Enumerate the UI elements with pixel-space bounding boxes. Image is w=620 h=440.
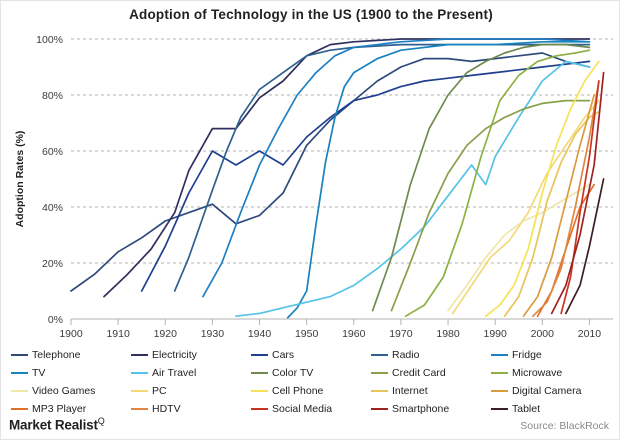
brand-mark-icon: Q — [98, 416, 105, 426]
legend-label: Smartphone — [392, 403, 449, 415]
chart-figure: Adoption of Technology in the US (1900 t… — [0, 0, 620, 440]
x-axis-tick-label: 2010 — [578, 328, 602, 340]
legend-item-microwave[interactable]: Microwave — [491, 367, 611, 379]
series-line-digital-camera — [523, 95, 594, 316]
legend-label: Digital Camera — [512, 385, 581, 397]
legend-swatch-icon — [11, 390, 28, 393]
legend-swatch-icon — [251, 372, 268, 375]
x-axis-tick-label: 1990 — [483, 328, 507, 340]
legend-label: Color TV — [272, 367, 313, 379]
legend-item-fridge[interactable]: Fridge — [491, 349, 611, 361]
line-chart-plot: 0%20%40%60%80%100%1900191019201930194019… — [1, 1, 620, 346]
legend-swatch-icon — [491, 390, 508, 393]
legend-item-tv[interactable]: TV — [11, 367, 131, 379]
y-axis-tick-label: 80% — [42, 90, 63, 102]
legend-item-pc[interactable]: PC — [131, 385, 251, 397]
legend-swatch-icon — [371, 354, 388, 357]
legend-label: Fridge — [512, 349, 542, 361]
legend-swatch-icon — [11, 354, 28, 357]
y-axis-tick-label: 60% — [42, 146, 63, 158]
x-axis-tick-label: 1900 — [59, 328, 83, 340]
series-line-video-games — [448, 185, 589, 311]
legend-swatch-icon — [491, 372, 508, 375]
y-axis-tick-label: 20% — [42, 258, 63, 270]
legend-item-video-games[interactable]: Video Games — [11, 385, 131, 397]
legend-label: MP3 Player — [32, 403, 86, 415]
legend-label: Microwave — [512, 367, 562, 379]
x-axis-tick-label: 2000 — [531, 328, 555, 340]
legend-label: Air Travel — [152, 367, 196, 379]
legend-item-social-media[interactable]: Social Media — [251, 403, 371, 415]
y-axis-tick-label: 40% — [42, 202, 63, 214]
legend-item-digital-camera[interactable]: Digital Camera — [491, 385, 611, 397]
legend-swatch-icon — [131, 354, 148, 357]
legend-label: Credit Card — [392, 367, 446, 379]
x-axis-tick-label: 1940 — [248, 328, 272, 340]
legend-label: Internet — [392, 385, 428, 397]
legend-label: HDTV — [152, 403, 181, 415]
series-line-cars — [142, 61, 590, 291]
legend-swatch-icon — [251, 390, 268, 393]
legend-swatch-icon — [251, 354, 268, 357]
legend-swatch-icon — [371, 408, 388, 411]
legend-label: Cars — [272, 349, 294, 361]
legend-item-smartphone[interactable]: Smartphone — [371, 403, 491, 415]
legend-swatch-icon — [11, 372, 28, 375]
x-axis-tick-label: 1910 — [106, 328, 130, 340]
legend-item-telephone[interactable]: Telephone — [11, 349, 131, 361]
y-axis-tick-label: 0% — [48, 314, 63, 326]
legend-label: Tablet — [512, 403, 540, 415]
legend-swatch-icon — [371, 390, 388, 393]
x-axis-tick-label: 1970 — [389, 328, 413, 340]
series-line-fridge — [203, 39, 589, 297]
x-axis-tick-label: 1920 — [154, 328, 178, 340]
legend-label: Social Media — [272, 403, 332, 415]
y-axis-tick-label: 100% — [36, 34, 63, 46]
legend-item-cars[interactable]: Cars — [251, 349, 371, 361]
source-attribution: Source: BlackRock — [520, 420, 609, 432]
legend-item-color-tv[interactable]: Color TV — [251, 367, 371, 379]
legend-swatch-icon — [491, 354, 508, 357]
legend-item-credit-card[interactable]: Credit Card — [371, 367, 491, 379]
legend-label: Electricity — [152, 349, 197, 361]
legend-item-radio[interactable]: Radio — [371, 349, 491, 361]
legend-item-air-travel[interactable]: Air Travel — [131, 367, 251, 379]
legend-label: PC — [152, 385, 167, 397]
legend-label: Radio — [392, 349, 419, 361]
chart-legend: TelephoneElectricityCarsRadioFridgeTVAir… — [11, 346, 611, 418]
legend-swatch-icon — [11, 408, 28, 411]
legend-label: Video Games — [32, 385, 95, 397]
series-line-air-travel — [236, 61, 589, 316]
legend-item-hdtv[interactable]: HDTV — [131, 403, 251, 415]
x-axis-tick-label: 1930 — [201, 328, 225, 340]
y-axis-title: Adoption Rates (%) — [14, 131, 26, 228]
x-axis-tick-label: 1960 — [342, 328, 366, 340]
legend-swatch-icon — [491, 408, 508, 411]
series-line-telephone — [71, 53, 589, 291]
legend-item-cell-phone[interactable]: Cell Phone — [251, 385, 371, 397]
x-axis-tick-label: 1950 — [295, 328, 319, 340]
legend-swatch-icon — [251, 408, 268, 411]
brand-logo: Market RealistQ — [9, 416, 105, 433]
legend-item-mp3-player[interactable]: MP3 Player — [11, 403, 131, 415]
legend-label: Telephone — [32, 349, 80, 361]
legend-swatch-icon — [131, 408, 148, 411]
series-line-radio — [175, 45, 590, 291]
legend-swatch-icon — [131, 372, 148, 375]
brand-text: Market Realist — [9, 418, 98, 433]
legend-item-electricity[interactable]: Electricity — [131, 349, 251, 361]
legend-label: TV — [32, 367, 45, 379]
legend-swatch-icon — [371, 372, 388, 375]
series-line-credit-card — [391, 101, 589, 311]
legend-label: Cell Phone — [272, 385, 323, 397]
legend-item-internet[interactable]: Internet — [371, 385, 491, 397]
legend-item-tablet[interactable]: Tablet — [491, 403, 611, 415]
x-axis-tick-label: 1980 — [436, 328, 460, 340]
series-line-microwave — [406, 50, 590, 316]
legend-swatch-icon — [131, 390, 148, 393]
